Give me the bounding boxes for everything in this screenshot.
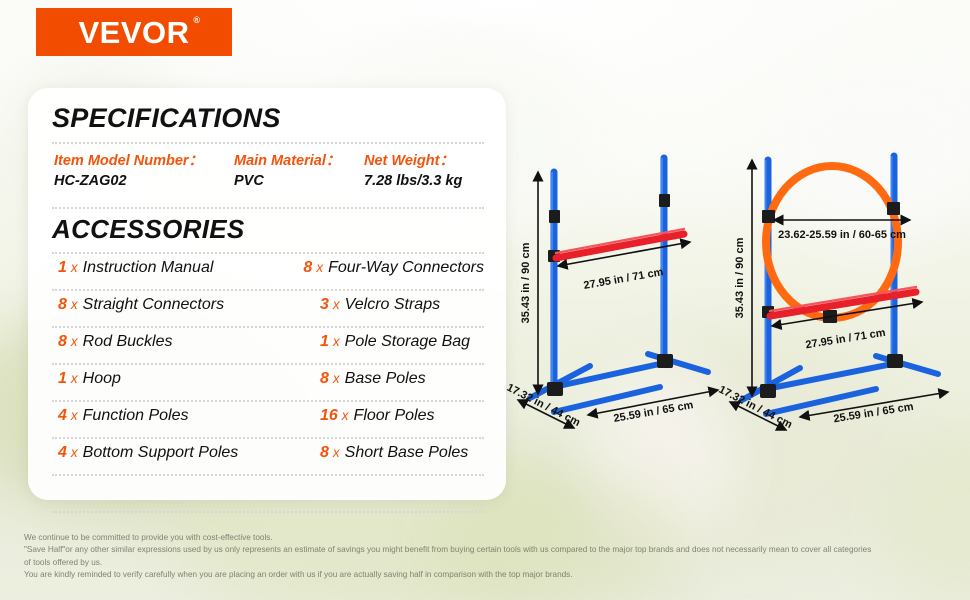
disclaimer: We continue to be committed to provide y… bbox=[24, 532, 954, 582]
accessory-name: Hoop bbox=[83, 370, 121, 388]
accessory-row: 1 x Hoop 8 x Base Poles bbox=[52, 365, 484, 394]
hoop-figure: 23.62-25.59 in / 60-65 cm 35.43 in / 90 … bbox=[726, 150, 964, 425]
accessory-qty: 8 bbox=[58, 333, 67, 351]
disclaimer-line: We continue to be committed to provide y… bbox=[24, 532, 954, 544]
spec-label: Net Weight： bbox=[364, 152, 462, 172]
accessory-name: Velcro Straps bbox=[345, 296, 440, 314]
accessory-multiplier: x bbox=[67, 297, 83, 312]
accessory-multiplier: x bbox=[329, 334, 345, 349]
accessory-item: 1 x Hoop bbox=[52, 370, 310, 388]
accessory-qty: 8 bbox=[320, 444, 329, 462]
spec-label: Main Material： bbox=[234, 152, 364, 172]
disclaimer-line: You are kindly reminded to verify carefu… bbox=[24, 569, 954, 581]
accessory-row: 4 x Bottom Support Poles 8 x Short Base … bbox=[52, 439, 484, 468]
accessory-name: Short Base Poles bbox=[345, 444, 469, 462]
dimension-hoop-diameter-label: 23.62-25.59 in / 60-65 cm bbox=[778, 229, 906, 241]
spec-value: PVC bbox=[234, 171, 364, 192]
accessory-name: Instruction Manual bbox=[83, 259, 214, 277]
accessory-item: 4 x Bottom Support Poles bbox=[52, 444, 310, 462]
accessory-multiplier: x bbox=[312, 260, 328, 275]
accessory-name: Pole Storage Bag bbox=[345, 333, 470, 351]
accessory-item: 1 x Pole Storage Bag bbox=[310, 333, 470, 351]
accessory-qty: 8 bbox=[58, 296, 67, 314]
dimension-height: 35.43 in / 90 cm bbox=[520, 172, 538, 394]
accessory-name: Base Poles bbox=[345, 370, 426, 388]
accessory-name: Rod Buckles bbox=[83, 333, 173, 351]
accessory-item: 8 x Base Poles bbox=[310, 370, 426, 388]
divider bbox=[52, 207, 484, 209]
specifications-heading: SPECIFICATIONS bbox=[52, 102, 484, 136]
accessory-multiplier: x bbox=[329, 445, 345, 460]
dimension-base-length: 25.59 in / 65 cm bbox=[588, 390, 718, 425]
accessories-heading: ACCESSORIES bbox=[52, 213, 484, 246]
spec-value: 7.28 lbs/3.3 kg bbox=[364, 171, 462, 192]
dimension-height-label: 35.43 in / 90 cm bbox=[734, 237, 746, 318]
accessory-item: 4 x Function Poles bbox=[52, 407, 310, 425]
vevor-logo: VEVOR® bbox=[36, 8, 232, 56]
accessory-qty: 4 bbox=[58, 407, 67, 425]
disclaimer-line: "Save Half"or any other similar expressi… bbox=[24, 544, 954, 556]
accessory-name: Function Poles bbox=[83, 407, 189, 425]
accessory-multiplier: x bbox=[67, 260, 83, 275]
spec-label: Item Model Number： bbox=[54, 152, 234, 172]
accessory-row: 4 x Function Poles 16 x Floor Poles bbox=[52, 402, 484, 431]
accessory-qty: 8 bbox=[303, 259, 312, 277]
info-card: SPECIFICATIONS Item Model Number： HC-ZAG… bbox=[28, 88, 506, 500]
spec-main-material: Main Material： PVC bbox=[234, 152, 364, 193]
accessory-qty: 8 bbox=[320, 370, 329, 388]
divider bbox=[52, 511, 484, 513]
accessory-qty: 1 bbox=[58, 259, 67, 277]
accessory-qty: 16 bbox=[320, 407, 338, 425]
accessory-item: 16 x Floor Poles bbox=[310, 407, 434, 425]
accessory-qty: 3 bbox=[320, 296, 329, 314]
accessory-item: 8 x Short Base Poles bbox=[310, 444, 468, 462]
accessory-multiplier: x bbox=[67, 334, 83, 349]
accessory-item: 8 x Four-Way Connectors bbox=[293, 259, 484, 277]
spec-net-weight: Net Weight： 7.28 lbs/3.3 kg bbox=[364, 152, 462, 193]
accessory-row: 1 x Instruction Manual 8 x Four-Way Conn… bbox=[52, 254, 484, 283]
dimension-height-label: 35.43 in / 90 cm bbox=[520, 242, 532, 323]
dimension-bar-width-label: 27.95 in / 71 cm bbox=[805, 327, 887, 352]
accessory-name: Floor Poles bbox=[354, 407, 435, 425]
accessory-name: Four-Way Connectors bbox=[328, 259, 484, 277]
dimension-height: 35.43 in / 90 cm bbox=[734, 160, 752, 396]
dimension-bar-width-label: 27.95 in / 71 cm bbox=[583, 266, 665, 292]
accessory-multiplier: x bbox=[329, 371, 345, 386]
accessory-item: 8 x Rod Buckles bbox=[52, 333, 310, 351]
accessory-row: 8 x Rod Buckles 1 x Pole Storage Bag bbox=[52, 328, 484, 357]
hurdle-figure: 35.43 in / 90 cm 27.95 in / 71 cm 25.59 … bbox=[512, 150, 727, 425]
accessory-qty: 1 bbox=[320, 333, 329, 351]
spec-item-model-number: Item Model Number： HC-ZAG02 bbox=[54, 152, 234, 193]
accessory-multiplier: x bbox=[67, 371, 83, 386]
accessory-qty: 4 bbox=[58, 444, 67, 462]
dimension-hoop-diameter: 23.62-25.59 in / 60-65 cm bbox=[774, 220, 910, 241]
accessory-item: 1 x Instruction Manual bbox=[52, 259, 293, 277]
accessory-item: 8 x Straight Connectors bbox=[52, 296, 310, 314]
accessory-row-empty bbox=[52, 476, 484, 505]
accessory-multiplier: x bbox=[338, 408, 354, 423]
accessory-row: 8 x Straight Connectors 3 x Velcro Strap… bbox=[52, 291, 484, 320]
dimension-base-length: 25.59 in / 65 cm bbox=[800, 392, 948, 425]
accessory-item: 3 x Velcro Straps bbox=[310, 296, 440, 314]
specifications-row: Item Model Number： HC-ZAG02 Main Materia… bbox=[52, 144, 484, 202]
accessory-multiplier: x bbox=[67, 408, 83, 423]
accessory-name: Straight Connectors bbox=[83, 296, 224, 314]
brand-name: VEVOR® bbox=[78, 17, 189, 48]
registered-trademark-icon: ® bbox=[193, 16, 200, 25]
accessory-multiplier: x bbox=[329, 297, 345, 312]
accessory-name: Bottom Support Poles bbox=[83, 444, 239, 462]
disclaimer-line: of tools offered by us. bbox=[24, 557, 954, 569]
spec-value: HC-ZAG02 bbox=[54, 171, 234, 192]
accessory-qty: 1 bbox=[58, 370, 67, 388]
accessory-multiplier: x bbox=[67, 445, 83, 460]
